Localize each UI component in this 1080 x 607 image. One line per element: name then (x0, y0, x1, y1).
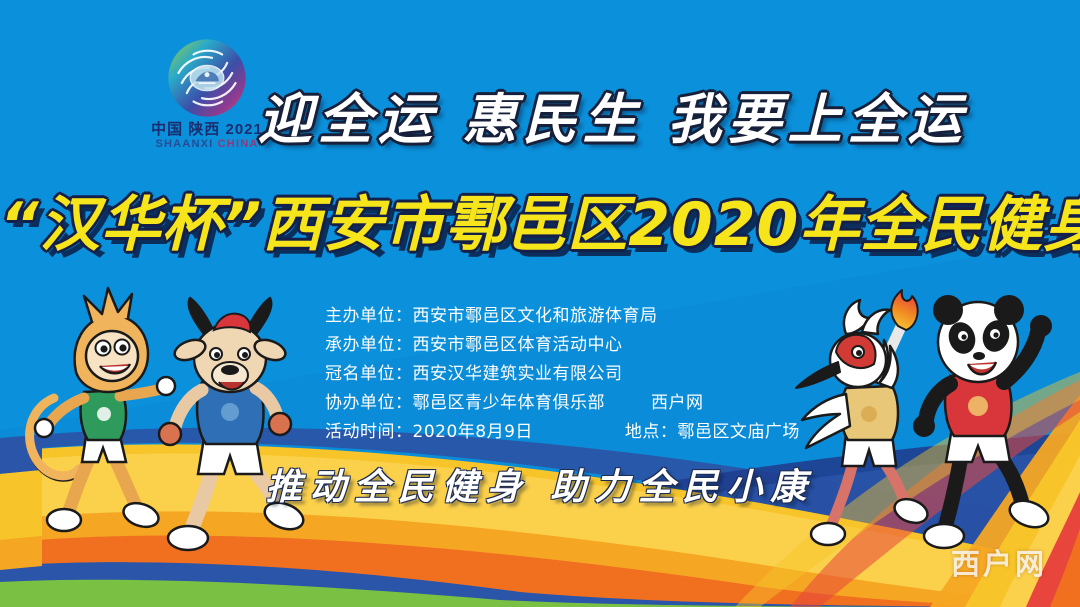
shaanxi-2021-emblem-icon (165, 36, 249, 120)
info-line-host: 承办单位：西安市鄠邑区体育活动中心 (325, 331, 785, 360)
info-line-coorganizer: 协办单位：鄠邑区青少年体育俱乐部西户网 (325, 389, 785, 418)
poster-header: 中国 陕西 2021 SHAANXI CHINA 迎全运 惠民生 我要上全运 (0, 36, 1080, 154)
logo-text-chinese: 中国 陕西 2021 (151, 122, 263, 137)
logo-text-english: SHAANXI CHINA (155, 139, 258, 150)
site-watermark: 西户网 (951, 541, 1047, 583)
info-label-sponsor: 冠名单位： (325, 364, 413, 384)
info-value-sponsor: 西安汉华建筑实业有限公司 (413, 364, 623, 384)
info-line-organizer: 主办单位：西安市鄠邑区文化和旅游体育局 (325, 302, 785, 331)
poster-slogan: 推动全民健身 助力全民小康 (0, 462, 1080, 514)
info-label-organizer: 主办单位： (325, 306, 413, 326)
info-label-host: 承办单位： (325, 335, 413, 355)
logo-text-china: CHINA (218, 138, 259, 150)
poster-main-title: “汉华杯”西安市鄠邑区2020年全民健身月展示活动 (0, 180, 1080, 270)
info-line-datetime-location: 活动时间：2020年8月9日地点：鄠邑区文庙广场 (325, 418, 785, 447)
info-value-host: 西安市鄠邑区体育活动中心 (413, 335, 623, 355)
poster-info-block: 主办单位：西安市鄠邑区文化和旅游体育局 承办单位：西安市鄠邑区体育活动中心 冠名… (325, 302, 785, 447)
info-value-coorganizer: 鄠邑区青少年体育俱乐部 (413, 393, 606, 413)
info-value-location: 鄠邑区文庙广场 (677, 418, 800, 447)
info-value-coorganizer-extra: 西户网 (651, 393, 704, 413)
poster-banner: 中国 陕西 2021 SHAANXI CHINA 迎全运 惠民生 我要上全运 “… (0, 0, 1080, 607)
logo-text-shaanxi: SHAANXI (155, 138, 213, 150)
info-line-sponsor: 冠名单位：西安汉华建筑实业有限公司 (325, 360, 785, 389)
info-value-organizer: 西安市鄠邑区文化和旅游体育局 (413, 306, 658, 326)
info-label-datetime: 活动时间： (325, 418, 413, 447)
info-value-datetime: 2020年8月9日 (413, 418, 533, 447)
info-label-coorganizer: 协办单位： (325, 393, 413, 413)
poster-headline: 迎全运 惠民生 我要上全运 (258, 84, 938, 156)
info-label-location: 地点： (625, 418, 678, 447)
games-logo: 中国 陕西 2021 SHAANXI CHINA (152, 36, 262, 154)
